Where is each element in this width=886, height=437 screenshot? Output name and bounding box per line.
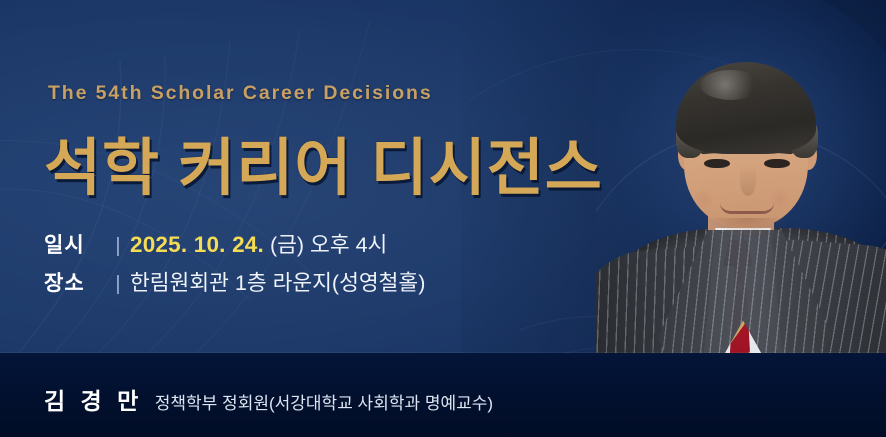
- info-row-venue: 장소 | 한림원회관 1층 라운지(성영철홀): [44, 266, 425, 297]
- eye-right: [764, 159, 790, 168]
- event-time: (금) 오후 4시: [270, 228, 387, 259]
- nose: [740, 166, 756, 196]
- mouth: [720, 203, 774, 214]
- cheek-right: [770, 186, 790, 212]
- event-info: 일시 | 2025. 10. 24. (금) 오후 4시 장소 | 한림원회관 …: [44, 228, 425, 297]
- info-divider-datetime: |: [106, 235, 130, 258]
- event-date: 2025. 10. 24.: [130, 232, 264, 258]
- speaker-affiliation: 정책학부 정회원(서강대학교 사회학과 명예교수): [155, 389, 493, 414]
- event-title: 석학 커리어 디시전스: [44, 117, 603, 207]
- info-label-venue: 장소: [44, 267, 106, 297]
- eye-left: [704, 159, 730, 168]
- event-venue: 한림원회관 1층 라운지(성영철홀): [130, 266, 425, 297]
- chin-shadow: [708, 218, 786, 238]
- cheek-left: [694, 186, 714, 212]
- event-subtitle: The 54th Scholar Career Decisions: [48, 82, 433, 105]
- speaker-line: 김 경 만 정책학부 정회원(서강대학교 사회학과 명예교수): [44, 382, 493, 416]
- speaker-name: 김 경 만: [44, 382, 143, 416]
- info-label-datetime: 일시: [44, 229, 106, 259]
- info-divider-venue: |: [106, 273, 130, 296]
- event-banner: The 54th Scholar Career Decisions 석학 커리어…: [0, 0, 886, 437]
- hair-highlight: [700, 70, 762, 100]
- info-row-datetime: 일시 | 2025. 10. 24. (금) 오후 4시: [44, 228, 425, 259]
